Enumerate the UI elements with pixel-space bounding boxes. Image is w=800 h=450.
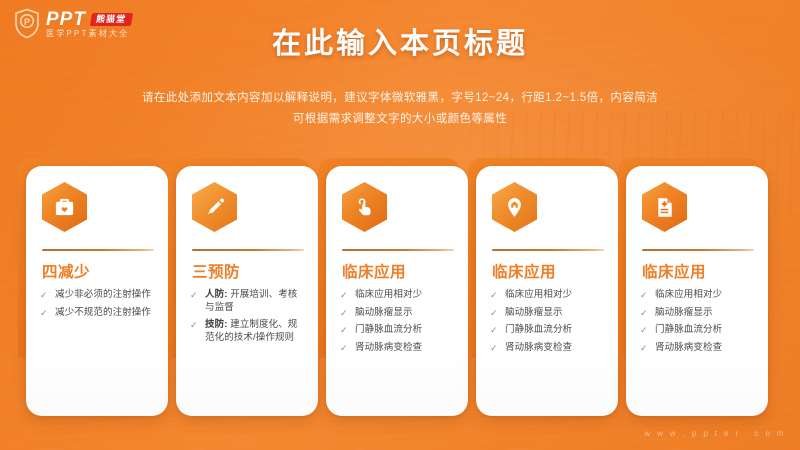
check-icon: ✓ <box>190 289 198 302</box>
card-bullet-list: ✓ 临床应用相对少 ✓ 脑动脉瘤显示 ✓ 门静脉血流分析 ✓ <box>338 289 456 354</box>
check-icon: ✓ <box>640 342 648 355</box>
check-icon: ✓ <box>40 307 48 320</box>
card-grid: 四减少 ✓ 减少非必须的注射操作 ✓ 减少不规范的注射操作 <box>26 166 778 416</box>
check-icon: ✓ <box>640 324 648 337</box>
bullet-text: 脑动脉瘤显示 <box>505 307 563 318</box>
card-surface[interactable]: 三预防 ✓ 人防: 开展培训、考核与监督 ✓ 技防: 建立制度化、规范化的技术/… <box>176 166 318 416</box>
list-item: ✓ 减少不规范的注射操作 <box>40 307 156 320</box>
card-bullet-list: ✓ 减少非必须的注射操作 ✓ 减少不规范的注射操作 <box>38 289 156 319</box>
brand-name: PPT <box>46 10 86 29</box>
card-surface[interactable]: 临床应用 ✓ 临床应用相对少 ✓ 脑动脉瘤显示 ✓ 门静脉血流分析 <box>626 166 768 416</box>
brand-logo: P PPT 熊猫堂 医学PPT素材大全 <box>14 8 132 39</box>
svg-text:P: P <box>24 17 30 27</box>
location-pin-icon <box>492 182 537 232</box>
list-item: ✓ 脑动脉瘤显示 <box>490 307 606 320</box>
bullet-text: 减少非必须的注射操作 <box>55 289 151 300</box>
check-icon: ✓ <box>340 307 348 320</box>
card-item[interactable]: 临床应用 ✓ 临床应用相对少 ✓ 脑动脉瘤显示 ✓ 门静脉血流分析 <box>476 166 618 416</box>
bullet-text: 门静脉血流分析 <box>655 324 722 335</box>
card-surface[interactable]: 四减少 ✓ 减少非必须的注射操作 ✓ 减少不规范的注射操作 <box>26 166 168 416</box>
brand-badge: 熊猫堂 <box>90 13 133 26</box>
card-divider <box>492 249 604 251</box>
list-item: ✓ 门静脉血流分析 <box>640 324 756 337</box>
bullet-text: 门静脉血流分析 <box>505 324 572 335</box>
list-item: ✓ 临床应用相对少 <box>490 289 606 302</box>
card-heading: 临床应用 <box>492 264 606 281</box>
bullet-text: 肾动脉病变检查 <box>505 342 572 353</box>
check-icon: ✓ <box>490 307 498 320</box>
card-bullet-list: ✓ 临床应用相对少 ✓ 脑动脉瘤显示 ✓ 门静脉血流分析 ✓ <box>638 289 756 354</box>
list-item: ✓ 减少非必须的注射操作 <box>40 289 156 302</box>
card-heading: 临床应用 <box>342 264 456 281</box>
list-item: ✓ 人防: 开展培训、考核与监督 <box>190 289 306 314</box>
card-surface[interactable]: 临床应用 ✓ 临床应用相对少 ✓ 脑动脉瘤显示 ✓ 门静脉血流分析 <box>476 166 618 416</box>
list-item: ✓ 肾动脉病变检查 <box>640 342 756 355</box>
list-item: ✓ 门静脉血流分析 <box>340 324 456 337</box>
card-bullet-list: ✓ 临床应用相对少 ✓ 脑动脉瘤显示 ✓ 门静脉血流分析 ✓ <box>488 289 606 354</box>
card-heading: 四减少 <box>42 264 156 281</box>
card-divider <box>342 249 454 251</box>
check-icon: ✓ <box>640 307 648 320</box>
medical-report-icon <box>642 182 687 232</box>
card-item[interactable]: 临床应用 ✓ 临床应用相对少 ✓ 脑动脉瘤显示 ✓ 门静脉血流分析 <box>326 166 468 416</box>
check-icon: ✓ <box>640 289 648 302</box>
card-heading: 三预防 <box>192 264 306 281</box>
check-icon: ✓ <box>40 289 48 302</box>
card-heading: 临床应用 <box>642 264 756 281</box>
check-icon: ✓ <box>490 324 498 337</box>
card-item[interactable]: 临床应用 ✓ 临床应用相对少 ✓ 脑动脉瘤显示 ✓ 门静脉血流分析 <box>626 166 768 416</box>
subtitle-line-1: 请在此处添加文本内容加以解释说明，建议字体微软雅黑，字号12~24，行距1.2~… <box>142 92 658 104</box>
list-item: ✓ 技防: 建立制度化、规范化的技术/操作规则 <box>190 319 306 344</box>
check-icon: ✓ <box>190 319 198 332</box>
card-item[interactable]: 三预防 ✓ 人防: 开展培训、考核与监督 ✓ 技防: 建立制度化、规范化的技术/… <box>176 166 318 416</box>
check-icon: ✓ <box>340 289 348 302</box>
page-subtitle: 请在此处添加文本内容加以解释说明，建议字体微软雅黑，字号12~24，行距1.2~… <box>0 88 800 130</box>
medical-kit-icon <box>42 182 87 232</box>
brand-tagline: 医学PPT素材大全 <box>46 30 132 38</box>
card-bullet-list: ✓ 人防: 开展培训、考核与监督 ✓ 技防: 建立制度化、规范化的技术/操作规则 <box>188 289 306 344</box>
bullet-text: 临床应用相对少 <box>505 289 572 300</box>
list-item: ✓ 肾动脉病变检查 <box>490 342 606 355</box>
check-icon: ✓ <box>490 289 498 302</box>
card-divider <box>192 249 304 251</box>
bullet-text: 脑动脉瘤显示 <box>355 307 413 318</box>
bullet-text: 临床应用相对少 <box>355 289 422 300</box>
site-watermark: w w w . p p t e r . c o m <box>644 429 786 438</box>
card-divider <box>642 249 754 251</box>
card-item[interactable]: 四减少 ✓ 减少非必须的注射操作 ✓ 减少不规范的注射操作 <box>26 166 168 416</box>
list-item: ✓ 脑动脉瘤显示 <box>340 307 456 320</box>
subtitle-line-2: 可根据需求调整文字的大小或颜色等属性 <box>0 109 800 130</box>
pen-icon <box>192 182 237 232</box>
card-divider <box>42 249 154 251</box>
bullet-prefix: 技防: <box>205 319 227 330</box>
list-item: ✓ 脑动脉瘤显示 <box>640 307 756 320</box>
bullet-text: 肾动脉病变检查 <box>355 342 422 353</box>
bullet-text: 门静脉血流分析 <box>355 324 422 335</box>
card-surface[interactable]: 临床应用 ✓ 临床应用相对少 ✓ 脑动脉瘤显示 ✓ 门静脉血流分析 <box>326 166 468 416</box>
bullet-text: 脑动脉瘤显示 <box>655 307 713 318</box>
list-item: ✓ 临床应用相对少 <box>340 289 456 302</box>
bullet-text: 肾动脉病变检查 <box>655 342 722 353</box>
list-item: ✓ 临床应用相对少 <box>640 289 756 302</box>
bullet-prefix: 人防: <box>205 289 227 300</box>
shield-p-icon: P <box>14 8 40 39</box>
bullet-text: 减少不规范的注射操作 <box>55 307 151 318</box>
check-icon: ✓ <box>340 324 348 337</box>
list-item: ✓ 肾动脉病变检查 <box>340 342 456 355</box>
slide-canvas: P PPT 熊猫堂 医学PPT素材大全 在此输入本页标题 请在此处添加文本内容加… <box>0 0 800 450</box>
check-icon: ✓ <box>340 342 348 355</box>
hand-click-icon <box>342 182 387 232</box>
bullet-text: 临床应用相对少 <box>655 289 722 300</box>
list-item: ✓ 门静脉血流分析 <box>490 324 606 337</box>
check-icon: ✓ <box>490 342 498 355</box>
